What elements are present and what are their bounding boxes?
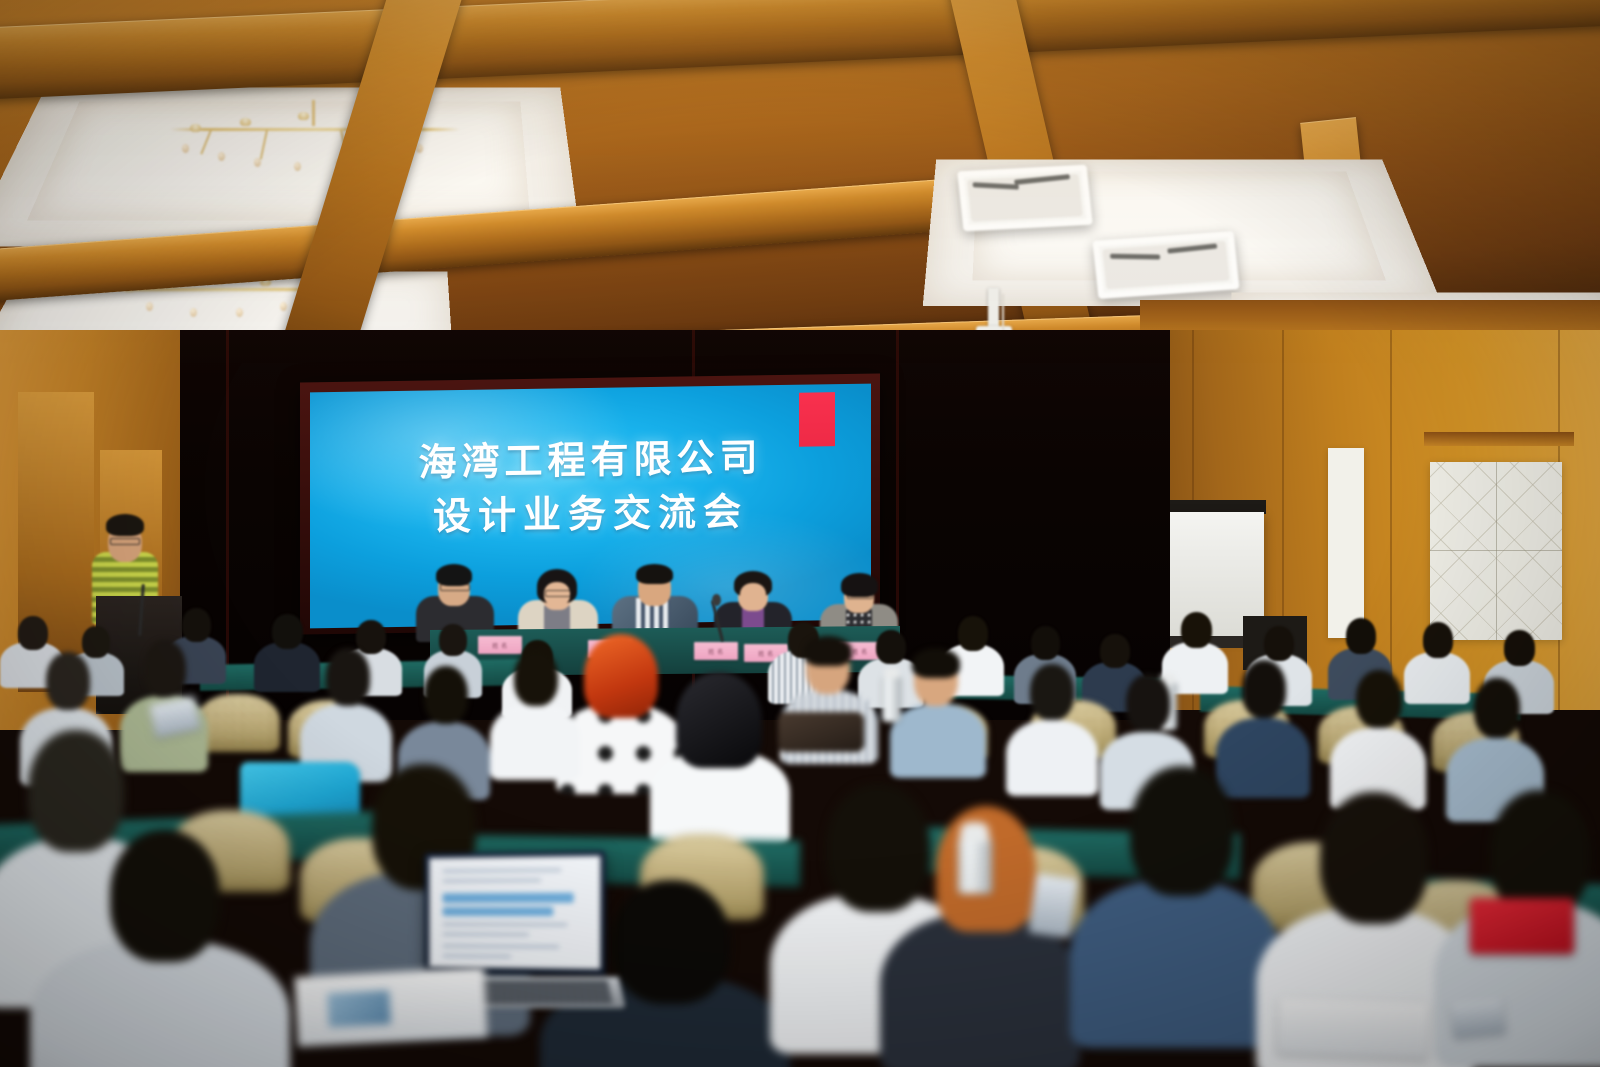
ac-2-vent-left [1110, 254, 1160, 260]
backdrop-fold-1 [226, 330, 229, 720]
blue-shirt [890, 704, 986, 778]
namecard-3: 姓 名 [694, 642, 738, 660]
audience-person-l1 [300, 648, 392, 772]
dark-handbag [778, 712, 864, 752]
thermos-bottle [958, 838, 992, 894]
audience-person-r4 [1330, 670, 1426, 800]
slide-title-line-2: 设计业务交流会 [310, 484, 871, 547]
chair-m1 [196, 694, 280, 752]
slide-title-line-1: 海湾工程有限公司 [310, 430, 871, 493]
laptop-display[interactable] [429, 856, 600, 969]
water-bottle-1 [882, 676, 901, 722]
air-conditioner-unit-2 [1092, 231, 1239, 299]
handheld-phone-3 [1450, 997, 1505, 1038]
red-bag [1470, 898, 1574, 954]
audience-person-blueshirt [890, 650, 986, 770]
audience-person-center-dark [650, 672, 790, 832]
speaker-hair [106, 514, 144, 536]
handheld-phone-2 [1028, 873, 1078, 938]
panelist-2-glasses [545, 590, 571, 597]
audience-person-l3 [490, 650, 580, 770]
projector-mount-arm [988, 288, 999, 328]
acoustic-panel-narrow [1328, 448, 1364, 638]
ceiling-beam-top [0, 0, 1600, 101]
acoustic-panel-header-trim [1424, 432, 1574, 446]
audience-front-person-7 [1070, 766, 1280, 1026]
panelist-3-hair [636, 564, 673, 584]
papers-stack [294, 967, 487, 1047]
namecard-3-label: 姓 名 [694, 647, 738, 656]
panelist-5-glasses [847, 592, 873, 599]
table-microphone-head [712, 594, 721, 606]
redhead-hair [584, 634, 658, 718]
thermos-cap [960, 822, 989, 842]
paper-illustration [327, 990, 391, 1027]
laptop-screen-lid [425, 851, 606, 976]
acoustic-panel-divider-v [1496, 462, 1497, 640]
audience-front-person-2 [30, 830, 290, 1067]
panelist-4-face [740, 583, 766, 607]
air-conditioner-unit-1 [957, 165, 1093, 232]
speaker-glasses [110, 538, 140, 545]
slide-title: 海湾工程有限公司 设计业务交流会 [310, 430, 871, 547]
papers-stack-right [1277, 997, 1429, 1058]
water-bottle-1-cap [884, 668, 899, 678]
panelist-1-glasses [440, 584, 470, 591]
conference-hall-scene: 海湾工程有限公司 设计业务交流会 [0, 0, 1600, 1067]
panelist-1-hair [436, 564, 472, 586]
center-dark-hair [676, 672, 762, 768]
